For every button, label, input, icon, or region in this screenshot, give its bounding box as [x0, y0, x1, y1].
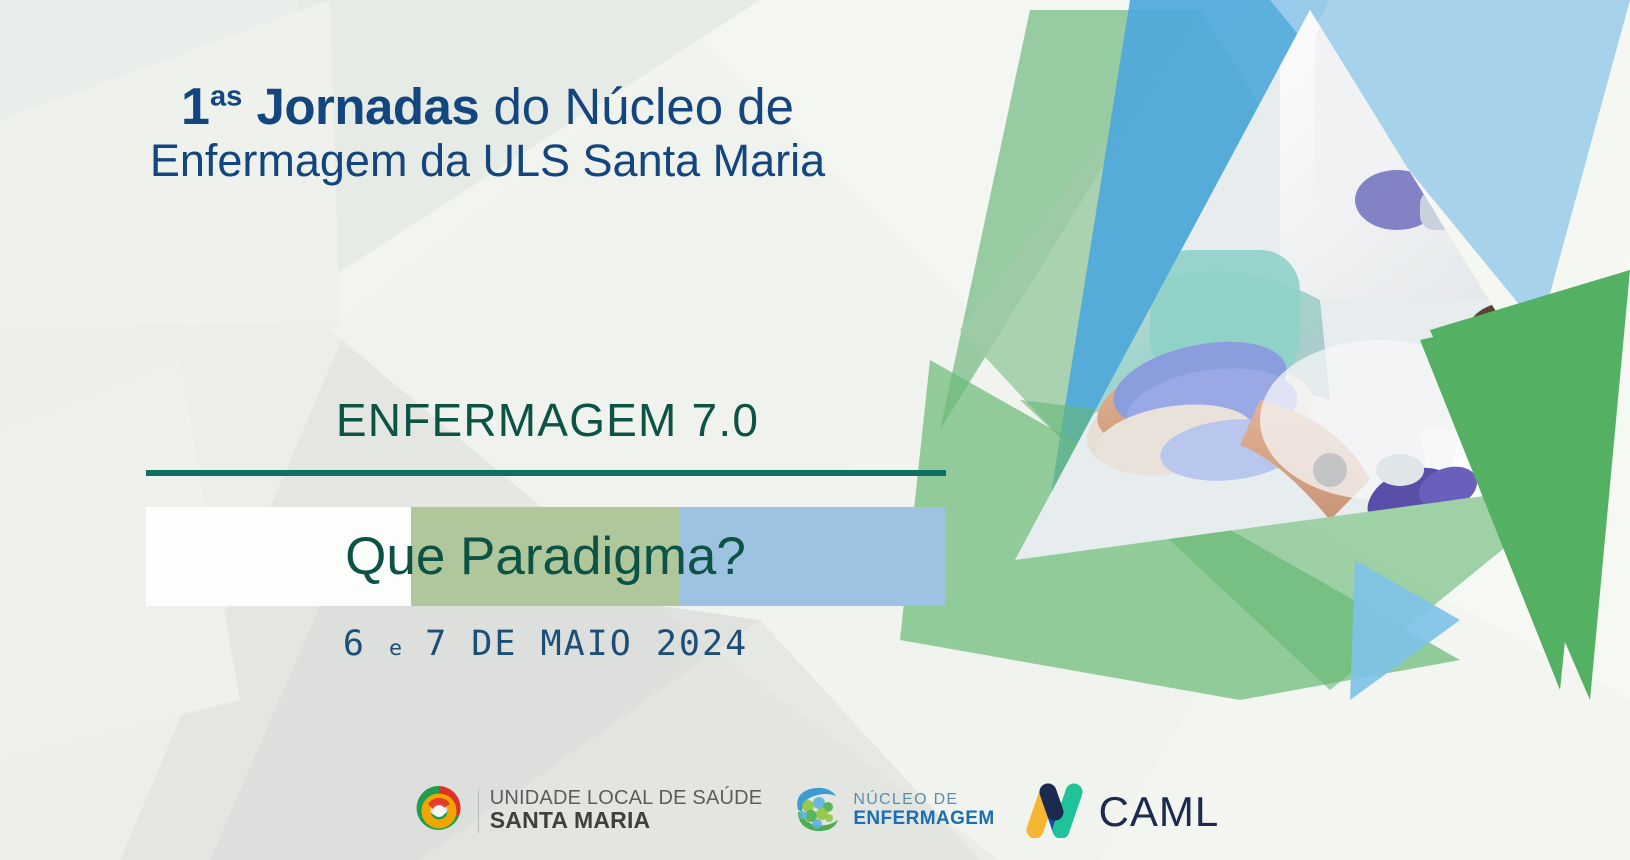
event-date: 6 e 7 DE MAIO 2024	[146, 624, 945, 664]
title-emphasis: Jornadas	[257, 78, 480, 135]
uls-santa-maria-logo: UNIDADE LOCAL DE SAÚDE SANTA MARIA	[411, 780, 763, 841]
nucleo-enfermagem-logo: NÚCLEO DE ENFERMAGEM	[788, 780, 994, 841]
caml-logo: CAML	[1021, 780, 1220, 843]
subtitle-text: Que Paradigma?	[345, 526, 746, 587]
uls-mark-icon	[411, 780, 467, 841]
date-month-year: DE MAIO 2024	[471, 624, 748, 664]
triangle-photo-collage	[900, 0, 1630, 700]
nucleo-logo-line-2: ENFERMAGEM	[853, 809, 994, 829]
nucleo-logo-text: NÚCLEO DE ENFERMAGEM	[853, 792, 994, 829]
title-line-1: 1as Jornadas do Núcleo de	[0, 78, 975, 136]
footer-logos: UNIDADE LOCAL DE SAÚDE SANTA MARIA	[0, 768, 1630, 860]
ordinal-number: 1as	[181, 78, 242, 136]
uls-logo-text: UNIDADE LOCAL DE SAÚDE SANTA MARIA	[490, 788, 763, 833]
caml-mark-icon	[1021, 780, 1091, 843]
date-conjunction: e	[389, 636, 402, 661]
page-title: 1as Jornadas do Núcleo de Enfermagem da …	[0, 78, 975, 187]
uls-logo-line-2: SANTA MARIA	[490, 809, 763, 833]
title-line-2: Enfermagem da ULS Santa Maria	[0, 136, 975, 186]
title-line-1-rest: do Núcleo de	[493, 78, 794, 135]
uls-logo-divider	[478, 789, 479, 833]
caml-wordmark: CAML	[1099, 788, 1220, 836]
event-poster: 1as Jornadas do Núcleo de Enfermagem da …	[0, 0, 1630, 860]
theme-title: ENFERMAGEM 7.0	[0, 393, 1095, 447]
date-day-first: 6	[343, 624, 366, 664]
nucleo-logo-line-1: NÚCLEO DE	[853, 792, 994, 809]
subtitle: Que Paradigma?	[146, 507, 945, 606]
ordinal-suffix: as	[210, 81, 242, 113]
uls-logo-line-1: UNIDADE LOCAL DE SAÚDE	[490, 788, 763, 809]
nucleo-mark-icon	[788, 780, 844, 841]
theme-divider	[146, 470, 946, 476]
date-day-second: 7	[425, 624, 448, 664]
